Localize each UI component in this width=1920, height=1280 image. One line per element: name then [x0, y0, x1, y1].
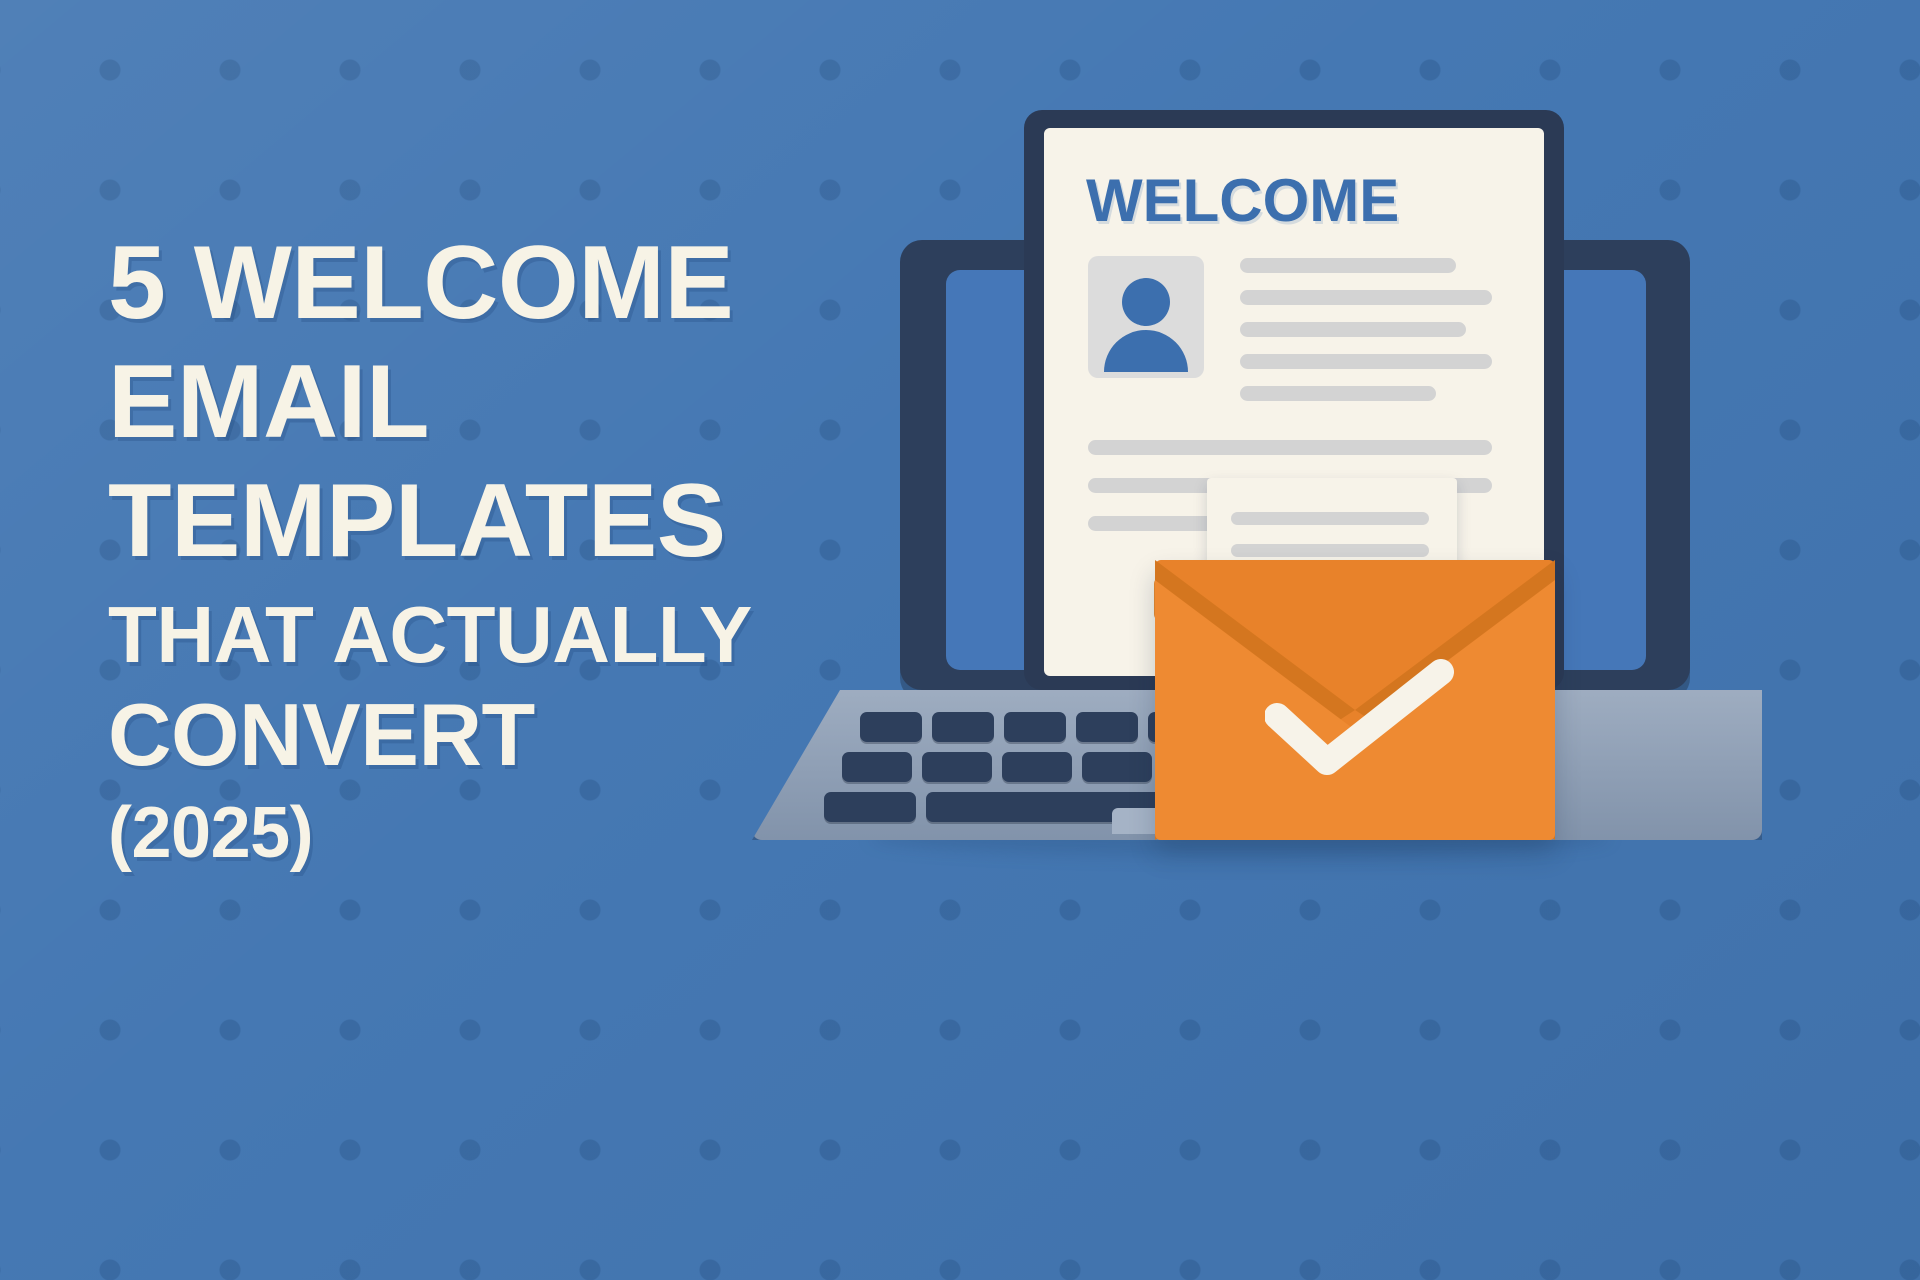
screen-text-line	[1240, 290, 1492, 305]
headline-line-2: EMAIL	[108, 351, 928, 454]
poster-canvas: 5 WELCOME EMAIL TEMPLATES THAT ACTUALLY …	[0, 0, 1920, 1280]
keyboard-key[interactable]	[860, 712, 922, 742]
keyboard-key[interactable]	[824, 792, 916, 822]
keyboard-key[interactable]	[1082, 752, 1152, 782]
avatar-body-icon	[1104, 330, 1188, 372]
avatar-head-icon	[1122, 278, 1170, 326]
keyboard-key[interactable]	[842, 752, 912, 782]
screen-text-line	[1240, 386, 1436, 401]
headline-line-1: 5 WELCOME	[108, 232, 928, 335]
avatar	[1088, 256, 1204, 378]
screen-text-line	[1240, 354, 1492, 369]
keyboard-key[interactable]	[1004, 712, 1066, 742]
letter-text-line	[1231, 512, 1429, 525]
checkmark-icon	[1265, 658, 1455, 778]
keyboard-key[interactable]	[932, 712, 994, 742]
keyboard-key[interactable]	[1076, 712, 1138, 742]
letter-text-line	[1231, 544, 1429, 557]
envelope-illustration	[1155, 430, 1555, 870]
keyboard-key[interactable]	[922, 752, 992, 782]
screen-text-line	[1240, 258, 1456, 273]
screen-welcome-heading: WELCOME	[1086, 166, 1399, 235]
screen-text-line	[1240, 322, 1466, 337]
keyboard-key[interactable]	[1002, 752, 1072, 782]
headline-line-3: TEMPLATES	[108, 470, 928, 573]
headline-line-4: THAT ACTUALLY	[108, 595, 928, 675]
